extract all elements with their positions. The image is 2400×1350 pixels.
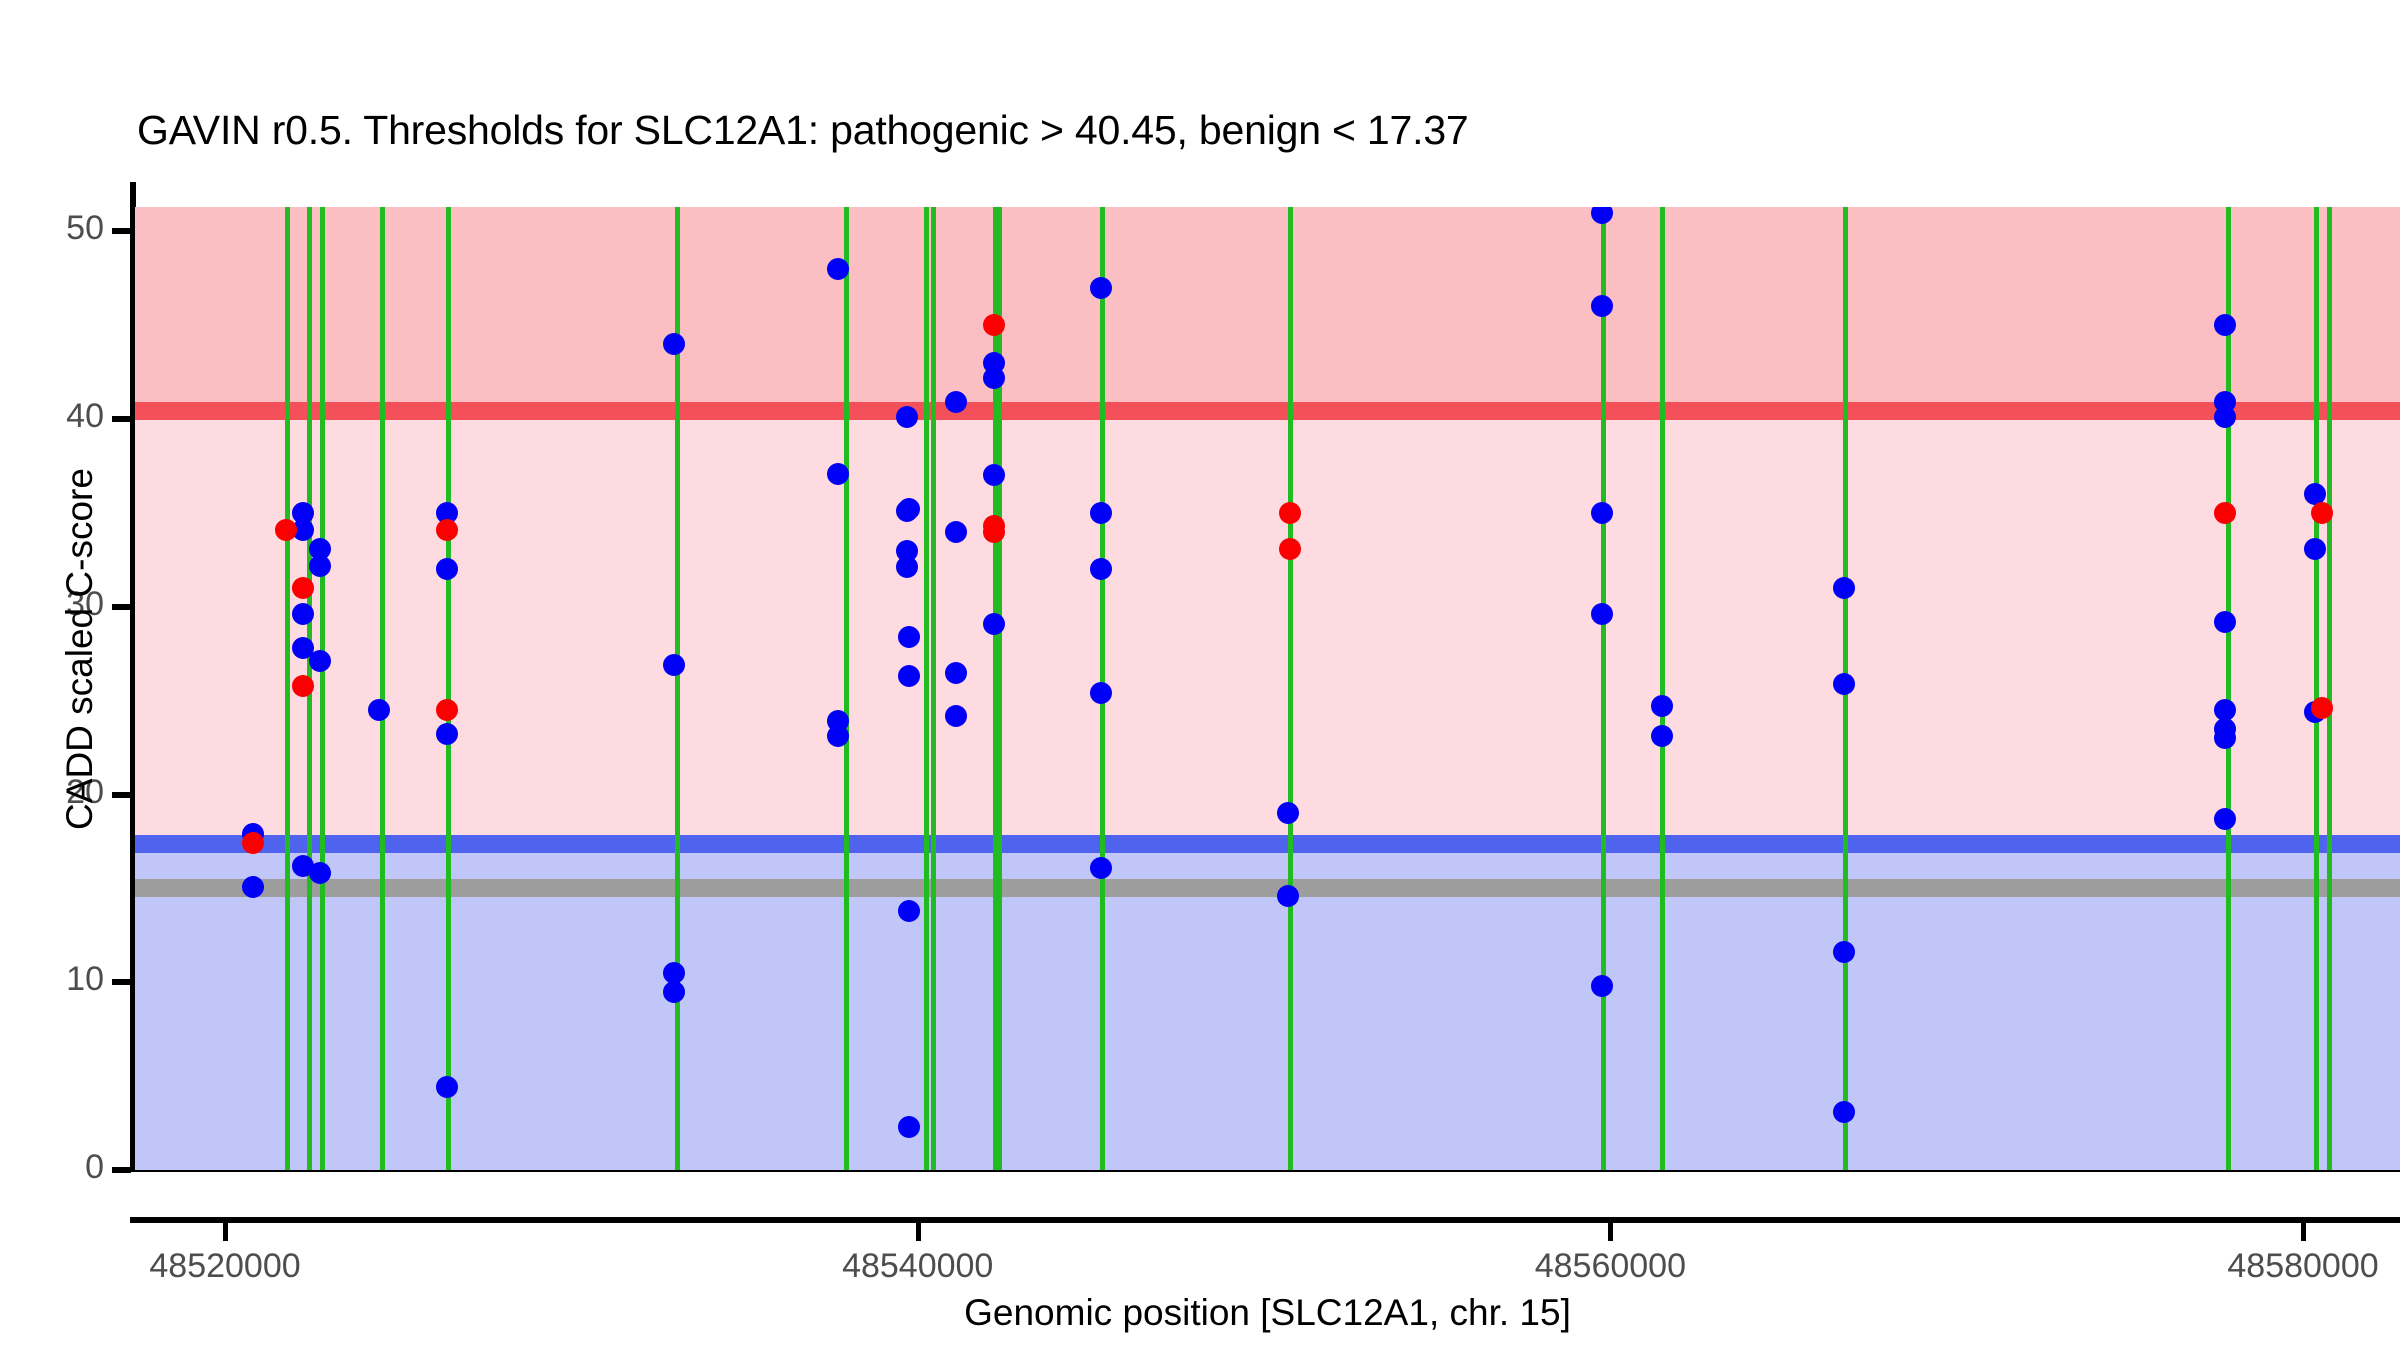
- x-axis-title: Genomic position [SLC12A1, chr. 15]: [135, 1292, 2400, 1334]
- x-axis-line: [130, 1217, 2400, 1223]
- x-axis-tick-label: 48520000: [25, 1247, 425, 1286]
- pathogenic-zone: [135, 207, 2400, 411]
- gnomad-variant-point: [898, 626, 920, 648]
- clinvar-variant-point: [2311, 502, 2333, 524]
- exon-line: [931, 207, 936, 1170]
- exon-line: [924, 207, 929, 1170]
- gnomad-variant-point: [1591, 603, 1613, 625]
- gnomad-variant-point: [898, 1116, 920, 1138]
- exon-line: [2314, 207, 2319, 1170]
- clinvar-variant-point: [242, 832, 264, 854]
- gnomad-variant-point: [945, 391, 967, 413]
- exon-line: [1601, 207, 1606, 1170]
- gnomad-variant-point: [827, 258, 849, 280]
- gnomad-variant-point: [898, 900, 920, 922]
- exon-line: [2226, 207, 2231, 1170]
- gnomad-variant-point: [663, 981, 685, 1003]
- exon-line: [1288, 207, 1293, 1170]
- gnomad-variant-point: [983, 613, 1005, 635]
- x-axis-tick-label: 48540000: [718, 1247, 1118, 1286]
- y-axis-tick: [112, 604, 131, 610]
- gnomad-variant-point: [1591, 207, 1613, 224]
- y-axis-tick: [112, 792, 131, 798]
- x-axis-tick: [2301, 1222, 2306, 1241]
- gnomad-variant-point: [945, 662, 967, 684]
- gnomad-variant-point: [309, 555, 331, 577]
- exon-line: [285, 207, 290, 1170]
- y-axis-tick-label: 50: [0, 209, 104, 248]
- clinvar-variant-point: [292, 675, 314, 697]
- clinvar-variant-point: [2214, 502, 2236, 524]
- gnomad-variant-point: [1090, 277, 1112, 299]
- exon-line: [320, 207, 325, 1170]
- clinvar-variant-point: [983, 314, 1005, 336]
- exon-line: [1660, 207, 1665, 1170]
- gnomad-variant-point: [436, 1076, 458, 1098]
- y-axis-tick: [112, 416, 131, 422]
- exon-line: [380, 207, 385, 1170]
- gnomad-variant-point: [2304, 538, 2326, 560]
- exon-line: [997, 207, 1002, 1170]
- clinvar-variant-point: [275, 519, 297, 541]
- fallback-threshold-line: [135, 879, 2400, 897]
- exon-line: [446, 207, 451, 1170]
- intermediate-zone: [135, 411, 2400, 844]
- gnomad-variant-point: [242, 876, 264, 898]
- y-axis-title: CADD scaled C-score: [59, 269, 101, 1029]
- gnomad-variant-point: [945, 521, 967, 543]
- x-axis-tick: [916, 1222, 921, 1241]
- clinvar-variant-point: [1279, 502, 1301, 524]
- x-axis-tick: [1608, 1222, 1613, 1241]
- y-axis-tick-label: 0: [0, 1148, 104, 1187]
- gnomad-variant-point: [1090, 857, 1112, 879]
- gnomad-variant-point: [1591, 502, 1613, 524]
- gnomad-variant-point: [983, 367, 1005, 389]
- clinvar-variant-point: [292, 577, 314, 599]
- y-axis-tick: [112, 228, 131, 234]
- gnomad-variant-point: [2214, 611, 2236, 633]
- clinvar-variant-point: [436, 699, 458, 721]
- pathogenic-threshold-line: [135, 402, 2400, 420]
- gnomad-variant-point: [663, 654, 685, 676]
- clinvar-variant-point: [1279, 538, 1301, 560]
- x-axis-tick-label: 48560000: [1410, 1247, 1810, 1286]
- gnomad-variant-point: [436, 558, 458, 580]
- gnomad-variant-point: [1833, 1101, 1855, 1123]
- clinvar-variant-point: [436, 519, 458, 541]
- benign-threshold-line: [135, 835, 2400, 853]
- plot-panel: [135, 207, 2400, 1170]
- gnomad-variant-point: [945, 705, 967, 727]
- clinvar-variant-point: [983, 521, 1005, 543]
- exon-line: [2327, 207, 2332, 1170]
- exon-line: [844, 207, 849, 1170]
- gnomad-variant-point: [663, 333, 685, 355]
- y-axis-tick: [112, 1167, 131, 1173]
- plot-root: GAVIN r0.5. Thresholds for SLC12A1: path…: [0, 0, 2400, 1350]
- x-axis-tick-label: 48580000: [2103, 1247, 2400, 1286]
- gnomad-variant-point: [827, 463, 849, 485]
- gnomad-variant-point: [1591, 975, 1613, 997]
- title-line-1: GAVIN r0.5. Thresholds for SLC12A1: path…: [137, 106, 2337, 155]
- gnomad-variant-point: [1833, 673, 1855, 695]
- gnomad-variant-point: [2214, 808, 2236, 830]
- y-axis-tick: [112, 979, 131, 985]
- x-axis-tick: [223, 1222, 228, 1241]
